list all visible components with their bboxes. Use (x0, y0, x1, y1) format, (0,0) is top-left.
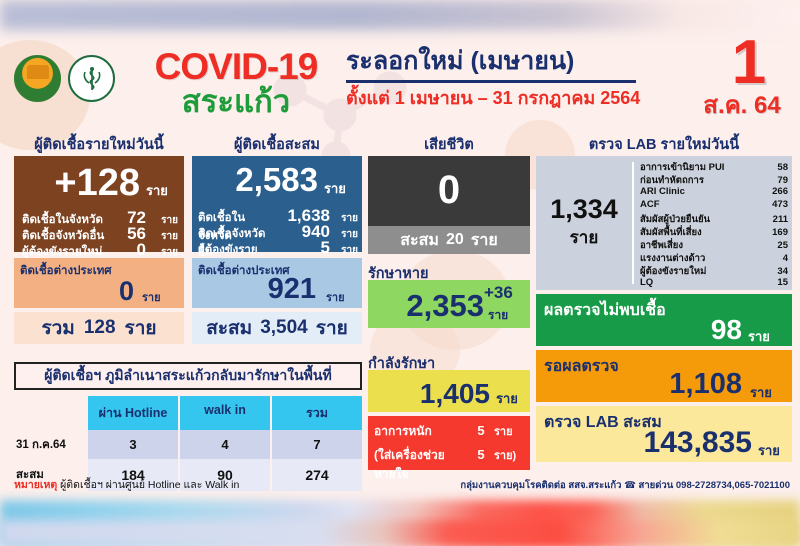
breakdown-unit: ราย (330, 211, 358, 226)
lab-negative-value: 98 (536, 314, 742, 346)
lab-negative-unit: ราย (748, 326, 770, 347)
top-blur-strip (0, 0, 800, 30)
foreign-value: 0 (14, 276, 134, 307)
header: COVID-19 สระแก้ว ระลอกใหม่ (เมษายน) ตั้ง… (0, 36, 800, 128)
severe-value: 5 (468, 423, 494, 438)
covid-infographic: COVID-19 สระแก้ว ระลอกใหม่ (เมษายน) ตั้ง… (0, 0, 800, 546)
new-cases-foreign-panel: ติดเชื้อต่างประเทศ 0 ราย (14, 258, 184, 308)
lab-item-value: 473 (754, 199, 788, 210)
deaths-value: 0 (368, 168, 530, 213)
severe-unit: ราย) (494, 446, 524, 464)
lab-item: อาการเข้านิยาม PUI58 (640, 160, 788, 173)
lab-item: สัมผัสพื้นที่เสี่ยง169 (640, 225, 788, 238)
lab-pending-value: 1,108 (536, 368, 742, 401)
table-cell: 7 (272, 430, 362, 459)
wave-date-range: ตั้งแต่ 1 เมษายน – 31 กรกฎาคม 2564 (346, 88, 666, 110)
deaths-cumulative-label: สะสม (400, 228, 439, 253)
deaths-cumulative-panel: สะสม 20 ราย (368, 226, 530, 254)
lab-item-value: 266 (754, 186, 788, 197)
footer-contact: กลุ่มงานควบคุมโรคติดต่อ สสจ.สระแก้ว ☎ สา… (430, 478, 790, 493)
foreign-value: 921 (192, 273, 316, 306)
page-title: COVID-19 (126, 48, 346, 85)
footnote: หมายเหตุ ผู้ติดเชื้อฯ ผ่านศูนย์ Hotline … (14, 476, 239, 493)
footer-org: กลุ่มงานควบคุมโรคติดต่อ สสจ.สระแก้ว (460, 480, 621, 491)
lab-item-value: 211 (754, 214, 788, 225)
lab-item: LQ15 (640, 277, 788, 290)
cumulative-breakdown-row: ติดเชื้อในจังหวัด 1,638 ราย (198, 206, 358, 222)
new-cases-heading: ผู้ติดเชื้อรายใหม่วันนี้ (14, 138, 184, 153)
lab-item-label: ARI Clinic (640, 186, 754, 197)
breakdown-unit: ราย (330, 243, 358, 258)
severe-value: 5 (468, 447, 494, 462)
recovered-value: 2,353 (372, 288, 484, 324)
lab-item-value: 4 (754, 253, 788, 264)
footer-hotline: สายด่วน 098-2728734,065-7021100 (639, 480, 790, 491)
table-row: 31 ก.ค.64 3 4 7 (14, 430, 362, 459)
treating-panel: 1,405 ราย (368, 370, 530, 412)
lab-item-value: 15 (754, 277, 788, 288)
table-corner-cell (14, 396, 88, 430)
cumulative-cases-unit: ราย (324, 178, 346, 199)
table-cell: 4 (180, 430, 272, 459)
report-month-year: ส.ค. 64 (690, 94, 794, 118)
lab-divider (632, 162, 634, 284)
recovered-unit: ราย (488, 306, 508, 325)
cumulative-cases-heading: ผู้ติดเชื้อสะสม (192, 138, 362, 153)
lab-today-heading: ตรวจ LAB รายใหม่วันนี้ (536, 138, 792, 153)
lab-item: ARI Clinic266 (640, 186, 788, 199)
cumulative-total-panel: สะสม 3,504 ราย (192, 312, 362, 344)
new-cases-unit: ราย (146, 180, 168, 201)
deaths-cumulative-value: 20 (446, 231, 464, 249)
footnote-prefix: หมายเหตุ (14, 479, 57, 491)
ministry-of-public-health-seal-icon (68, 55, 115, 102)
column-header: รวม (272, 396, 362, 430)
total-unit: ราย (316, 313, 348, 343)
breakdown-unit: ราย (146, 213, 178, 228)
lab-cumulative-value: 143,835 (536, 426, 752, 460)
lab-today-total-value: 1,334 (550, 195, 618, 225)
breakdown-unit: ราย (330, 227, 358, 242)
treating-unit: ราย (496, 388, 518, 409)
lab-pending-panel: รอผลตรวจ 1,108 ราย (536, 350, 792, 402)
table-header-row: ผ่าน Hotline walk in รวม (14, 396, 362, 430)
report-day: 1 (706, 32, 792, 94)
lab-today-total-unit: ราย (570, 224, 599, 251)
severe-row: อาการหนัก 5 ราย (368, 416, 530, 446)
deaths-cumulative-unit: ราย (471, 228, 498, 253)
deaths-heading: เสียชีวิต (368, 138, 530, 153)
lab-item: ก่อนทำหัตถการ79 (640, 173, 788, 186)
lab-item-label: LQ (640, 277, 754, 288)
treating-value: 1,405 (368, 378, 490, 410)
deaths-panel: 0 (368, 156, 530, 226)
cumulative-foreign-panel: ติดเชื้อต่างประเทศ 921 ราย (192, 258, 362, 308)
footnote-text: ผู้ติดเชื้อฯ ผ่านศูนย์ Hotline และ Walk … (60, 479, 239, 491)
breakdown-value: 0 (108, 240, 146, 260)
severe-row: (ใส่เครื่องช่วยหายใจ 5 ราย) (368, 446, 530, 470)
lab-item-value: 58 (754, 162, 788, 173)
lab-item-value: 79 (754, 175, 788, 186)
new-cases-panel: +128 ราย ติดเชื้อในจังหวัด 72 ราย ติดเชื… (14, 156, 184, 252)
lab-item: ผู้ต้องขังรายใหม่34 (640, 264, 788, 277)
recovered-delta: +36 (484, 283, 513, 303)
lab-pending-unit: ราย (750, 382, 772, 403)
total-value: 3,504 (260, 317, 308, 339)
recovered-panel: 2,353 +36 ราย (368, 280, 530, 328)
row-label: 31 ก.ค.64 (14, 430, 88, 459)
lab-item-value: 34 (754, 266, 788, 277)
breakdown-unit: ราย (146, 229, 178, 244)
cumulative-cases-panel: 2,583 ราย ติดเชื้อในจังหวัด 1,638 ราย ติ… (192, 156, 362, 252)
column-header: ผ่าน Hotline (88, 396, 180, 430)
total-label: รวม (41, 313, 74, 343)
lab-item: แรงงานต่างด้าว4 (640, 251, 788, 264)
table-cell: 3 (88, 430, 180, 459)
lab-item: อาชีพเสี่ยง25 (640, 238, 788, 251)
lab-item-value: 169 (754, 227, 788, 238)
lab-item: สัมผัสผู้ป่วยยืนยัน211 (640, 212, 788, 225)
column-header: walk in (180, 396, 272, 430)
lab-negative-panel: ผลตรวจไม่พบเชื้อ 98 ราย (536, 294, 792, 346)
cumulative-cases-value: 2,583 (194, 161, 318, 199)
province-name: สระแก้ว (126, 86, 346, 117)
breakdown-value: 5 (274, 238, 330, 258)
total-value: 128 (84, 317, 116, 339)
lab-cumulative-panel: ตรวจ LAB สะสม 143,835 ราย (536, 406, 792, 462)
new-cases-value: +128 (20, 162, 140, 205)
provincial-seal-icon (14, 55, 61, 102)
lab-breakdown-list: อาการเข้านิยาม PUI58 ก่อนทำหัตถการ79 ARI… (640, 160, 788, 290)
phone-icon: ☎ (624, 480, 636, 491)
foreign-unit: ราย (326, 288, 345, 306)
severe-cases-panel: อาการหนัก 5 ราย (ใส่เครื่องช่วยหายใจ 5 ร… (368, 416, 530, 470)
wave-title: ระลอกใหม่ (เมษายน) (346, 48, 636, 83)
lab-today-total: 1,334 ราย (536, 156, 632, 290)
total-unit: ราย (125, 313, 157, 343)
foreign-unit: ราย (142, 288, 161, 306)
returnee-table-title: ผู้ติดเชื้อฯ ภูมิลำเนาสระแก้วกลับมารักษา… (14, 362, 362, 390)
new-cases-breakdown-row: ติดเชื้อในจังหวัด 72 ราย (22, 208, 178, 223)
lab-item: ACF473 (640, 199, 788, 212)
severe-unit: ราย (494, 422, 524, 440)
lab-today-panel: 1,334 ราย อาการเข้านิยาม PUI58 ก่อนทำหัต… (536, 156, 792, 290)
new-cases-total-panel: รวม 128 ราย (14, 312, 184, 344)
table-cell: 274 (272, 459, 362, 491)
total-label: สะสม (206, 313, 252, 343)
lab-cumulative-unit: ราย (758, 440, 780, 461)
lab-item-label: ACF (640, 199, 754, 210)
bottom-blur-strip-2 (0, 520, 800, 546)
lab-item-value: 25 (754, 240, 788, 251)
severe-label: อาการหนัก (374, 422, 468, 441)
